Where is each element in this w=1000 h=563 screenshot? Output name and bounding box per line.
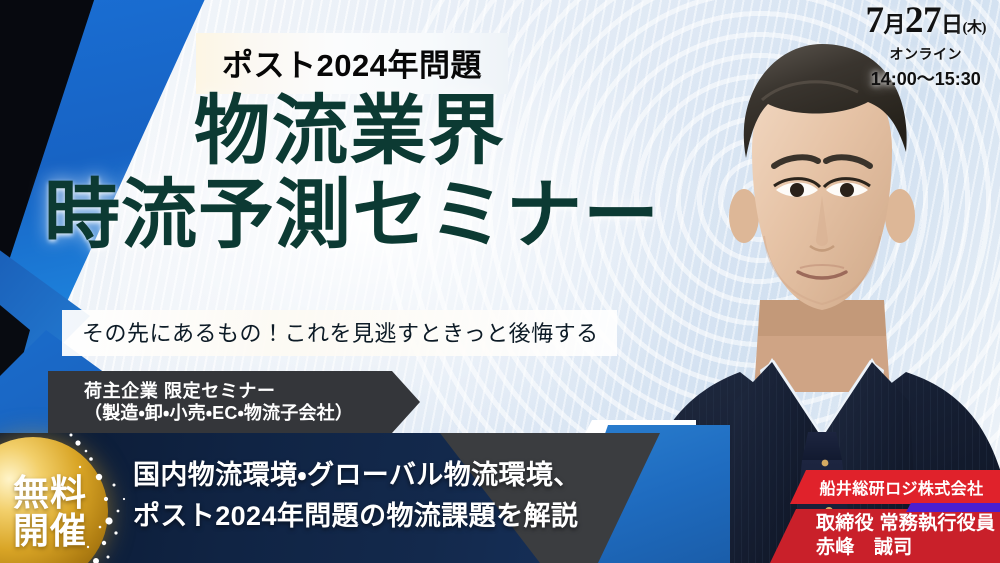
subtitle-text: その先にあるもの！これを見逃すときっと後悔する [82,321,599,346]
speaker-accent-stripe [906,503,1000,512]
date-day-number: 27 [905,0,941,41]
free-badge-text: 無料 開催 [0,437,108,563]
topic-badge: ポスト2024年問題 [196,33,508,94]
date-day-unit: 日 [941,12,963,37]
seminar-banner: 7月27日(木) オンライン 14:00〜15:30 ポスト2024年問題 物流… [0,0,1000,563]
title-line-1: 物流業界 [0,96,760,169]
bottom-description: 国内物流環境・グローバル物流環境、 ポスト2024年問題の物流課題を解説 [133,455,581,537]
event-format-label: オンライン [865,44,986,64]
event-time-range: 14:00〜15:30 [865,65,986,91]
audience-ribbon: 荷主企業 限定セミナー （製造・卸・小売・EC・物流子会社） [48,371,420,433]
speaker-role-bar: 取締役 常務執行役員 赤峰 誠司 [770,509,1000,563]
date-month-unit: 月 [883,12,905,37]
title-line-2: 時流予測セミナー [0,177,760,255]
free-admission-badge: 無料 開催 [0,437,108,563]
event-date-block: 7月27日(木) オンライン 14:00〜15:30 [865,2,986,91]
speaker-role-title: 取締役 常務執行役員 [816,512,1000,536]
free-badge-line-1: 無料 [13,474,87,512]
date-day-of-week: (木) [963,20,987,36]
event-date-line: 7月27日(木) [865,2,986,39]
topic-badge-label: ポスト2024年問題 [222,48,482,83]
speaker-company-bar: 船井総研ロジ株式会社 [790,470,1000,504]
bottom-description-line-2: ポスト2024年問題の物流課題を解説 [133,496,581,537]
bottom-description-line-1: 国内物流環境・グローバル物流環境、 [133,455,581,496]
speaker-company-name: 船井総研ロジ株式会社 [811,475,983,499]
free-badge-line-2: 開催 [13,512,87,550]
date-month-number: 7 [865,0,883,41]
main-title: 物流業界 時流予測セミナー [0,96,760,254]
speaker-name: 赤峰 誠司 [816,536,1000,560]
subtitle-band: その先にあるもの！これを見逃すときっと後悔する [62,310,617,356]
ribbon-line-1: 荷主企業 限定セミナー [84,380,420,403]
ribbon-line-2: （製造・卸・小売・EC・物流子会社） [84,402,420,425]
